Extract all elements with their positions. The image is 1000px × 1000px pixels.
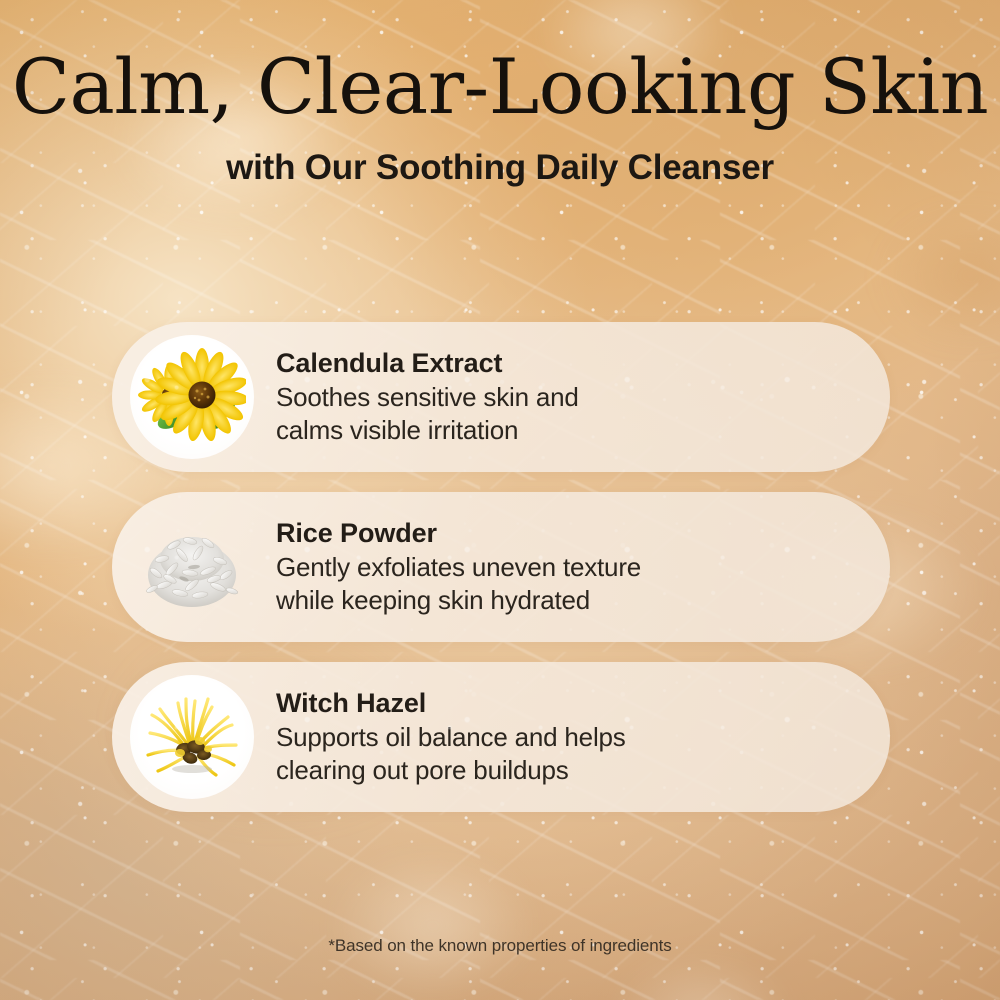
calendula-flower-icon (138, 343, 246, 451)
rice-powder-icon (138, 513, 246, 621)
calendula-text-block: Calendula Extract Soothes sensitive skin… (276, 348, 607, 447)
calendula-icon-badge (130, 335, 254, 459)
rice-powder-text-block: Rice Powder Gently exfoliates uneven tex… (276, 518, 669, 617)
ingredient-card-calendula: Calendula Extract Soothes sensitive skin… (112, 322, 890, 472)
ingredient-card-rice-powder: Rice Powder Gently exfoliates uneven tex… (112, 492, 890, 642)
rice-powder-icon-badge (130, 505, 254, 629)
infographic-poster: Calm, Clear-Looking Skin with Our Soothi… (0, 0, 1000, 1000)
ingredient-description: Gently exfoliates uneven texture while k… (276, 551, 641, 617)
page-title: Calm, Clear-Looking Skin (0, 48, 1000, 126)
witch-hazel-flower-icon (138, 683, 246, 791)
header: Calm, Clear-Looking Skin with Our Soothi… (0, 48, 1000, 188)
witch-hazel-text-block: Witch Hazel Supports oil balance and hel… (276, 688, 654, 787)
ingredient-title: Calendula Extract (276, 348, 579, 379)
page-subtitle: with Our Soothing Daily Cleanser (0, 148, 1000, 188)
witch-hazel-icon-badge (130, 675, 254, 799)
ingredient-title: Witch Hazel (276, 688, 626, 719)
ingredient-description: Supports oil balance and helps clearing … (276, 721, 626, 787)
ingredient-card-witch-hazel: Witch Hazel Supports oil balance and hel… (112, 662, 890, 812)
disclaimer-footnote: *Based on the known properties of ingred… (0, 936, 1000, 956)
ingredient-description: Soothes sensitive skin and calms visible… (276, 381, 579, 447)
ingredient-title: Rice Powder (276, 518, 641, 549)
ingredient-card-list: Calendula Extract Soothes sensitive skin… (112, 322, 890, 812)
